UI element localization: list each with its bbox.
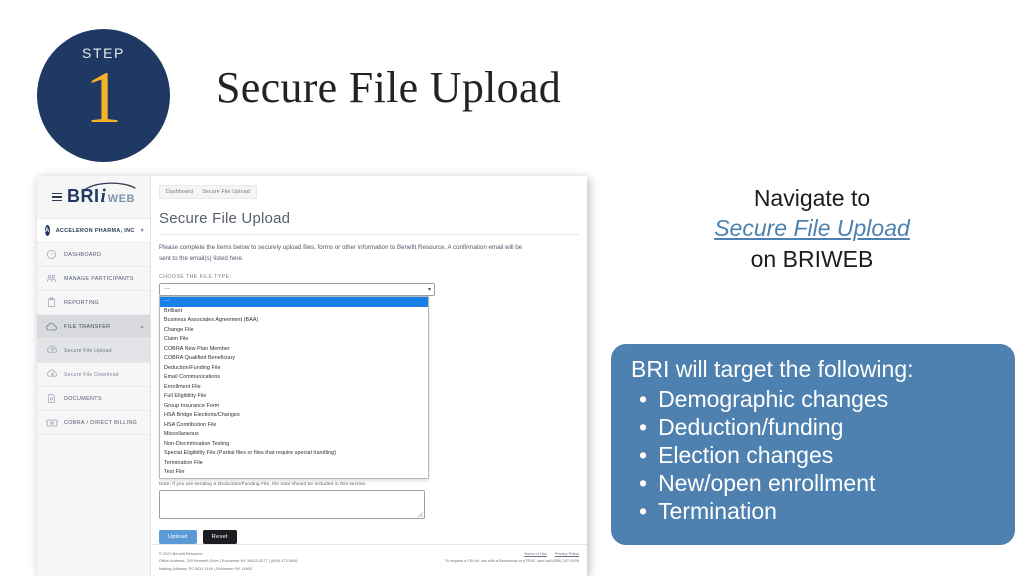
navigate-line-1: Navigate to	[754, 185, 870, 211]
gauge-icon	[45, 248, 58, 261]
file-type-option[interactable]: Group Insurance Form	[160, 402, 428, 412]
sidebar-filler	[37, 435, 150, 576]
file-type-option[interactable]: HSA Bridge Elections/Changes	[160, 411, 428, 421]
app-page-title: Secure File Upload	[159, 210, 587, 227]
footer-support-note: To request a PIN for use with a Benivers…	[445, 557, 579, 564]
file-type-option[interactable]: Enrollment File	[160, 383, 428, 393]
people-icon	[45, 272, 58, 285]
sidebar-subitem-label: Secure File Download	[64, 372, 119, 378]
briweb-logo: BRI i WEB	[67, 186, 135, 208]
file-type-option[interactable]: Non-Discrimination Testing	[160, 440, 428, 450]
app-main-content: Dashboard Secure File Upload Secure File…	[151, 176, 587, 576]
logo-web: WEB	[108, 193, 135, 205]
file-type-option[interactable]: COBRA Qualified Beneficiary	[160, 354, 428, 364]
form-actions: Upload Reset	[159, 530, 587, 544]
sidebar-item-documents[interactable]: DOCUMENTS	[37, 387, 150, 411]
chevron-up-icon: ▴	[141, 323, 144, 330]
target-callout-item: •Deduction/funding	[631, 413, 1015, 441]
breadcrumb-dashboard[interactable]: Dashboard	[166, 189, 193, 195]
target-callout-item-label: Election changes	[658, 441, 833, 469]
sidebar-item-secure-file-download[interactable]: Secure File Download	[37, 363, 150, 387]
cloud-upload-icon	[47, 344, 58, 357]
cloud-icon	[45, 320, 58, 333]
file-type-option[interactable]: Claim File	[160, 335, 428, 345]
navigate-emphasis: Secure File Upload	[612, 213, 1012, 243]
target-callout-item-label: Termination	[658, 497, 777, 525]
navigate-line-2: on BRIWEB	[751, 246, 874, 272]
breadcrumb-secure-file-upload[interactable]: Secure File Upload	[202, 189, 250, 195]
sidebar-item-label: DOCUMENTS	[64, 396, 102, 402]
file-type-selected-value: ---	[164, 286, 170, 292]
file-type-option-list[interactable]: ---BrilliantBusiness Associates Agreemen…	[159, 296, 429, 479]
target-callout-item: •Election changes	[631, 441, 1015, 469]
slide-canvas: STEP 1 Secure File Upload BRI i WEB A A	[0, 0, 1024, 576]
bullet-icon: •	[639, 441, 647, 469]
target-callout-item-label: New/open enrollment	[658, 469, 875, 497]
sidebar-item-label: DASHBOARD	[64, 252, 101, 258]
sidebar-item-reporting[interactable]: REPORTING	[37, 291, 150, 315]
bullet-icon: •	[639, 413, 647, 441]
sidebar-item-label: FILE TRANSFER	[64, 324, 110, 330]
document-icon	[45, 392, 58, 405]
step-number: 1	[85, 63, 122, 133]
sidebar-item-cobra-direct-billing[interactable]: COBRA / DIRECT BILLING	[37, 411, 150, 435]
arc-icon	[81, 180, 137, 193]
page-title: Secure File Upload	[216, 62, 561, 113]
step-badge: STEP 1	[37, 29, 170, 162]
file-type-option[interactable]: HSA Contribution File	[160, 421, 428, 431]
sidebar-item-secure-file-upload[interactable]: Secure File Upload	[37, 339, 150, 363]
upload-button[interactable]: Upload	[159, 530, 197, 544]
bullet-icon: •	[639, 385, 647, 413]
sidebar-item-dashboard[interactable]: DASHBOARD	[37, 243, 150, 267]
file-type-option[interactable]: Test File	[160, 468, 428, 478]
sidebar-logo-row: BRI i WEB	[37, 176, 150, 219]
target-callout-title: BRI will target the following:	[631, 358, 1015, 381]
hamburger-menu-icon[interactable]	[52, 193, 62, 202]
card-icon	[45, 416, 58, 429]
target-callout-item-label: Deduction/funding	[658, 413, 843, 441]
file-type-option[interactable]: Termination File	[160, 459, 428, 469]
sidebar-item-label: MANAGE PARTICIPANTS	[64, 276, 134, 282]
sidebar-item-manage-participants[interactable]: MANAGE PARTICIPANTS	[37, 267, 150, 291]
chevron-down-icon: ▾	[141, 227, 144, 234]
breadcrumb: Dashboard Secure File Upload	[159, 185, 257, 199]
app-footer: © 2022 Benefit Resource Office Address: …	[151, 544, 587, 576]
sidebar-item-file-transfer[interactable]: FILE TRANSFER ▴	[37, 315, 150, 339]
bullet-icon: •	[639, 469, 647, 497]
app-screenshot: BRI i WEB A ACCELERON PHARMA, INC ▾ DASH…	[37, 176, 587, 576]
target-callout-item: •New/open enrollment	[631, 469, 1015, 497]
file-type-option[interactable]: Brilliant	[160, 307, 428, 317]
navigate-callout: Navigate to Secure File Upload on BRIWEB	[612, 183, 1012, 274]
file-type-option[interactable]: Special Eligibility File (Partial files …	[160, 449, 428, 459]
target-callout-list: •Demographic changes•Deduction/funding•E…	[631, 385, 1015, 525]
target-callout-item: •Demographic changes	[631, 385, 1015, 413]
page-description: Please complete the items below to secur…	[159, 243, 531, 265]
footer-copyright: © 2022 Benefit Resource	[159, 550, 298, 557]
reset-button[interactable]: Reset	[203, 530, 237, 544]
avatar: A	[45, 225, 50, 236]
title-divider	[159, 234, 579, 235]
privacy-policy-link[interactable]: Privacy Policy	[555, 550, 579, 557]
sidebar-item-label: COBRA / DIRECT BILLING	[64, 420, 137, 426]
clipboard-icon	[45, 296, 58, 309]
file-type-option[interactable]: ---	[160, 297, 428, 307]
footer-links: Terms of Use Privacy Policy	[445, 550, 579, 557]
file-type-label: CHOOSE THE FILE TYPE:	[159, 274, 587, 280]
notes-textarea[interactable]	[159, 490, 425, 519]
file-type-option[interactable]: Business Associates Agreement (BAA)	[160, 316, 428, 326]
file-type-option[interactable]: Deduction/Funding File	[160, 364, 428, 374]
file-type-option[interactable]: Email Communications	[160, 373, 428, 383]
footer-office-address: Office Address: 245 Kenneth Drive | Roch…	[159, 557, 298, 564]
target-callout-box: BRI will target the following: •Demograp…	[611, 344, 1015, 545]
sidebar-subitem-label: Secure File Upload	[64, 348, 112, 354]
cloud-download-icon	[47, 368, 58, 381]
file-type-option[interactable]: COBRA New Plan Member	[160, 345, 428, 355]
footer-right: Terms of Use Privacy Policy To request a…	[445, 550, 579, 565]
footer-mailing-address: Mailing Address: PO BOX 1140 | Rochester…	[159, 565, 298, 572]
footer-left: © 2022 Benefit Resource Office Address: …	[159, 550, 298, 572]
file-type-select[interactable]: --- ▾	[159, 283, 435, 297]
file-type-option[interactable]: Miscellaneous	[160, 430, 428, 440]
deduction-note: Note: if you are sending a Deduction/Fun…	[159, 482, 579, 487]
bullet-icon: •	[639, 497, 647, 525]
terms-of-use-link[interactable]: Terms of Use	[524, 550, 547, 557]
sidebar-org-selector[interactable]: A ACCELERON PHARMA, INC ▾	[37, 219, 150, 243]
file-type-option[interactable]: Full Eligibility File	[160, 392, 428, 402]
target-callout-item: •Termination	[631, 497, 1015, 525]
sidebar-item-label: REPORTING	[64, 300, 99, 306]
file-type-option[interactable]: Change File	[160, 326, 428, 336]
chevron-down-icon: ▾	[428, 286, 431, 293]
target-callout-item-label: Demographic changes	[658, 385, 888, 413]
sidebar: BRI i WEB A ACCELERON PHARMA, INC ▾ DASH…	[37, 176, 151, 576]
sidebar-org-label: ACCELERON PHARMA, INC	[56, 228, 135, 234]
